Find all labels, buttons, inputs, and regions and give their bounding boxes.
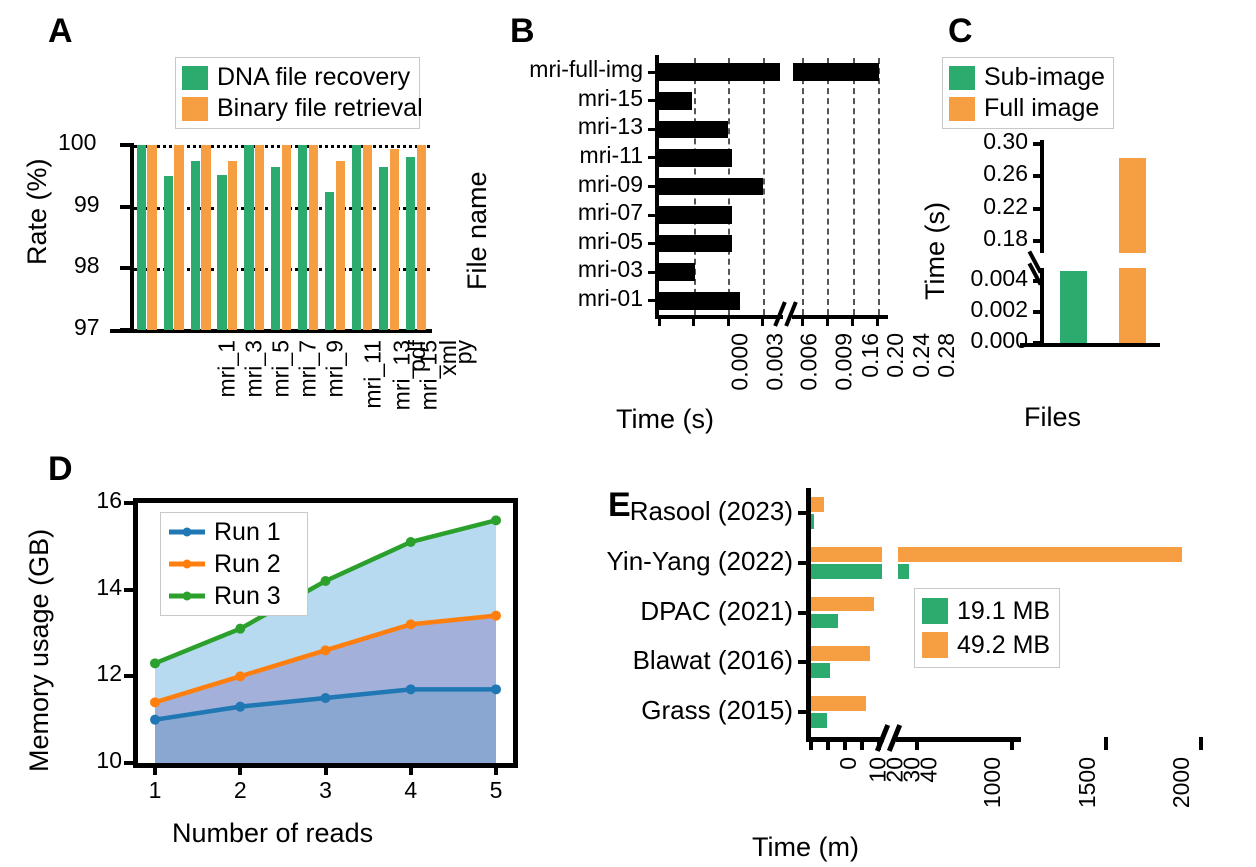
panel-a-ytick-label: 100 xyxy=(58,129,96,156)
panel-e-xlabel: Time (m) xyxy=(752,832,859,863)
panel-c: C Sub-image Full image Time (s) Files 0.… xyxy=(900,0,1256,440)
bar-49-2-MB-Yin-Yang-2022--high xyxy=(898,547,1182,562)
panel-e-xtick xyxy=(843,737,847,750)
panel-e-ytick xyxy=(798,511,811,515)
bar-49-2-MB-Grass-2015- xyxy=(811,696,866,711)
bar-dna-file-recovery-mri_15 xyxy=(325,192,334,330)
panel-d-xtick-label: 3 xyxy=(312,777,340,804)
panel-b-xlabel: Time (s) xyxy=(616,404,714,435)
panel-b-ytick-label: mri-09 xyxy=(440,171,643,198)
panel-c-ytick-label: 0.004 xyxy=(900,265,1028,292)
panel-b-xtick xyxy=(727,315,730,326)
panel-c-legend: Sub-image Full image xyxy=(942,57,1114,129)
panel-d-xtick xyxy=(324,763,328,775)
panel-b-xtick-label: 0.16 xyxy=(857,333,884,378)
point-run-3-4 xyxy=(406,537,416,547)
legend-item-run2: Run 2 xyxy=(167,548,301,580)
panel-c-ytick xyxy=(1033,142,1044,146)
panel-e-xtick-label: 1000 xyxy=(979,757,1006,808)
panel-a: A DNA file recovery Binary file retrieva… xyxy=(0,0,440,440)
panel-b-gridline xyxy=(763,58,765,315)
bar-mri-03 xyxy=(659,263,695,281)
bar-dna-file-recovery-mri_11 xyxy=(271,167,280,330)
bar-mri-05 xyxy=(659,235,732,253)
point-run-1-4 xyxy=(406,684,416,694)
panel-a-xtick-label: mri_11 xyxy=(360,340,387,409)
panel-e-xtick-label: 1500 xyxy=(1074,757,1101,808)
legend-item-dna: DNA file recovery xyxy=(182,62,413,93)
figure-root: A DNA file recovery Binary file retrieva… xyxy=(0,0,1256,867)
bar-dna-file-recovery-pdf xyxy=(352,145,361,330)
point-run-3-2 xyxy=(235,624,245,634)
panel-d-xtick xyxy=(153,763,157,775)
bar-dna-file-recovery-mri_5 xyxy=(191,161,200,330)
panel-b-ytick-label: mri-13 xyxy=(440,113,643,140)
panel-e-ytick-label: Blawat (2016) xyxy=(560,645,793,676)
panel-c-ytick-label: 0.000 xyxy=(900,327,1028,354)
panel-b-xtick-label: 0.000 xyxy=(727,333,754,391)
panel-c-ytick xyxy=(1033,239,1044,243)
panel-a-label: A xyxy=(48,14,73,48)
panel-a-ytick xyxy=(120,266,132,270)
bar-49-2-MB-DPAC-2021- xyxy=(811,597,874,612)
panel-b-ytick xyxy=(648,214,659,217)
legend-item-19mb: 19.1 MB xyxy=(922,594,1052,628)
panel-d-ytick xyxy=(124,588,136,592)
bar-mri-07 xyxy=(659,206,732,224)
panel-c-yaxis-upper xyxy=(1040,140,1044,253)
bar-mri-11 xyxy=(659,149,732,167)
bar-mri-01 xyxy=(659,292,740,310)
panel-b-xtick-label: 0.009 xyxy=(830,333,857,391)
panel-a-xtick-label: mri_1 xyxy=(214,340,241,398)
panel-b-ytick-label: mri-07 xyxy=(440,199,643,226)
panel-e-ytick-label: DPAC (2021) xyxy=(560,596,793,627)
panel-a-ytick-label: 97 xyxy=(74,314,100,341)
panel-e-ytick-label: Grass (2015) xyxy=(560,695,793,726)
panel-d-xtick-label: 5 xyxy=(482,777,510,804)
bar-19-1-MB-Grass-2015- xyxy=(811,713,827,728)
panel-b-gridline xyxy=(878,58,880,315)
bar-dna-file-recovery-xml xyxy=(379,167,388,330)
bar-mri-13 xyxy=(659,121,728,139)
panel-b: B File name Time (s) mri-01mri-03mri-05m… xyxy=(440,0,900,440)
panel-c-ytick xyxy=(1033,341,1044,345)
bar-19-1-MB-Blawat-2016- xyxy=(811,663,830,678)
bar-binary-file-retrieval-mri_11 xyxy=(282,145,291,330)
orange-swatch xyxy=(182,97,208,121)
panel-e-xtick-label: 2000 xyxy=(1169,757,1196,808)
bar-49-2-MB-Yin-Yang-2022--low xyxy=(811,547,882,562)
panel-d-xtick-label: 1 xyxy=(141,777,169,804)
panel-e-ytick xyxy=(798,611,811,615)
bar-binary-file-retrieval-py xyxy=(417,145,426,330)
legend-label-binary: Binary file retrieval xyxy=(217,96,423,121)
panel-b-ytick xyxy=(648,156,659,159)
panel-b-ytick-label: mri-03 xyxy=(440,256,643,283)
orange-swatch xyxy=(949,97,975,121)
point-run-3-5 xyxy=(491,515,501,525)
panel-a-xtick-label: mri_7 xyxy=(295,340,322,398)
bar-binary-file-retrieval-mri_3 xyxy=(174,145,183,330)
panel-a-ytick xyxy=(120,143,132,147)
panel-e-xtick xyxy=(826,737,830,750)
bar-binary-file-retrieval-mri_7 xyxy=(228,161,237,330)
panel-b-xtick xyxy=(658,315,661,326)
bar-binary-file-retrieval-mri_9 xyxy=(255,145,264,330)
point-run-2-1 xyxy=(150,697,160,707)
panel-b-xtick xyxy=(826,315,829,326)
panel-d-ytick-label: 12 xyxy=(78,660,122,687)
green-swatch xyxy=(949,66,975,90)
panel-b-axis-break-2 xyxy=(784,301,797,327)
legend-label-49mb: 49.2 MB xyxy=(957,633,1050,658)
legend-label-dna: DNA file recovery xyxy=(217,65,410,90)
panel-b-xtick xyxy=(692,315,695,326)
run3-line-swatch xyxy=(167,589,207,603)
panel-b-label: B xyxy=(510,14,535,48)
panel-d-xtick xyxy=(494,763,498,775)
panel-b-xtick xyxy=(761,315,764,326)
panel-b-xtick xyxy=(801,315,804,326)
panel-b-ytick-label: mri-05 xyxy=(440,228,643,255)
panel-e-xtick-label: 40 xyxy=(915,757,942,783)
bar-dna-file-recovery-py xyxy=(406,157,415,330)
point-run-1-1 xyxy=(150,715,160,725)
panel-d-xtick-label: 2 xyxy=(226,777,254,804)
point-run-2-5 xyxy=(491,611,501,621)
bar-binary-file-retrieval-mri_15 xyxy=(336,161,345,330)
legend-item-run3: Run 3 xyxy=(167,580,301,612)
panel-d-xlabel: Number of reads xyxy=(172,818,373,849)
panel-e-xtick xyxy=(915,737,919,750)
panel-e-ytick-label: Rasool (2023) xyxy=(560,496,793,527)
panel-e-ytick xyxy=(798,660,811,664)
bar-19-1-MB-Yin-Yang-2022--high xyxy=(898,564,909,579)
point-run-1-2 xyxy=(235,702,245,712)
panel-b-gridline xyxy=(827,58,829,315)
panel-d-ytick xyxy=(124,501,136,505)
orange-swatch xyxy=(922,632,948,658)
panel-c-ytick xyxy=(1033,174,1044,178)
point-run-3-3 xyxy=(321,576,331,586)
legend-label-run2: Run 2 xyxy=(214,552,281,577)
panel-b-ytick xyxy=(648,185,659,188)
panel-d-xtick-label: 4 xyxy=(397,777,425,804)
bar-19-1-MB-DPAC-2021- xyxy=(811,614,838,629)
panel-b-ytick-label: mri-15 xyxy=(440,85,643,112)
panel-d: D Memory usage (GB) Number of reads Run … xyxy=(0,440,560,867)
panel-a-ylabel: Rate (%) xyxy=(22,158,53,265)
point-run-2-4 xyxy=(406,619,416,629)
bar-19-1-MB-Yin-Yang-2022--low xyxy=(811,564,882,579)
panel-c-xlabel: Files xyxy=(1024,402,1081,433)
point-run-2-2 xyxy=(235,671,245,681)
panel-d-label: D xyxy=(48,452,73,486)
bar-49-2-MB-Rasool-2023- xyxy=(811,497,824,512)
panel-a-xtick-label: pdf xyxy=(404,340,431,372)
point-run-1-3 xyxy=(321,693,331,703)
panel-d-ytick xyxy=(124,761,136,765)
bar-sub-image-low xyxy=(1060,271,1087,343)
green-swatch xyxy=(182,66,208,90)
legend-item-subimage: Sub-image xyxy=(949,62,1107,93)
bar-19-1-MB-Rasool-2023- xyxy=(811,514,814,529)
panel-e-ytick xyxy=(798,710,811,714)
panel-b-ytick xyxy=(648,299,659,302)
bar-mri-full-img-low xyxy=(659,63,780,81)
run1-line-swatch xyxy=(167,525,207,539)
bar-binary-file-retrieval-pdf xyxy=(363,145,372,330)
panel-b-xtick-label: 0.006 xyxy=(796,333,823,391)
panel-b-xtick xyxy=(851,315,854,326)
panel-e-ytick xyxy=(798,561,811,565)
panel-b-ytick xyxy=(648,128,659,131)
legend-item-binary: Binary file retrieval xyxy=(182,93,413,124)
panel-b-ytick xyxy=(648,271,659,274)
bar-mri-15 xyxy=(659,92,692,110)
panel-c-ytick xyxy=(1033,207,1044,211)
panel-a-ytick xyxy=(120,328,132,332)
legend-label-run1: Run 1 xyxy=(214,520,281,545)
panel-d-xtick xyxy=(238,763,242,775)
legend-label-fullimage: Full image xyxy=(984,96,1099,121)
panel-e: E Time (m) Grass (2015)Blawat (2016)DPAC… xyxy=(560,440,1256,867)
panel-b-ytick xyxy=(648,242,659,245)
panel-c-ytick-label: 0.22 xyxy=(900,193,1028,220)
bar-dna-file-recovery-mri_3 xyxy=(164,176,173,330)
panel-b-ytick-label: mri-full-img xyxy=(440,56,643,83)
panel-a-xtick-label: mri_3 xyxy=(241,340,268,398)
panel-b-gridline xyxy=(802,58,804,315)
legend-label-run3: Run 3 xyxy=(214,584,281,609)
panel-b-xtick-label: 0.003 xyxy=(761,333,788,391)
panel-d-ytick-label: 14 xyxy=(78,574,122,601)
bar-binary-file-retrieval-mri_13 xyxy=(309,145,318,330)
panel-b-gridline xyxy=(853,58,855,315)
bar-dna-file-recovery-mri_7 xyxy=(217,175,226,330)
panel-a-ytick-label: 99 xyxy=(74,191,100,218)
panel-c-label: C xyxy=(948,14,973,48)
panel-e-legend: 19.1 MB 49.2 MB xyxy=(914,588,1060,668)
run2-line-swatch xyxy=(167,557,207,571)
bar-mri-09 xyxy=(659,178,763,196)
panel-a-ytick xyxy=(120,205,132,209)
panel-b-ytick xyxy=(648,99,659,102)
bar-dna-file-recovery-mri_9 xyxy=(244,145,253,330)
panel-e-ytick-label: Yin-Yang (2022) xyxy=(560,546,793,577)
legend-item-fullimage: Full image xyxy=(949,93,1107,124)
panel-e-xtick xyxy=(1104,737,1108,750)
panel-d-legend: Run 1 Run 2 Run 3 xyxy=(160,512,308,616)
legend-item-run1: Run 1 xyxy=(167,516,301,548)
legend-label-19mb: 19.1 MB xyxy=(957,599,1050,624)
panel-c-ytick-label: 0.18 xyxy=(900,225,1028,252)
legend-item-49mb: 49.2 MB xyxy=(922,628,1052,662)
bar-49-2-MB-Blawat-2016- xyxy=(811,646,870,661)
panel-b-ytick-label: mri-01 xyxy=(440,285,643,312)
bar-mri-full-img-high xyxy=(793,63,879,81)
panel-d-ylabel: Memory usage (GB) xyxy=(24,529,55,772)
green-swatch xyxy=(922,598,948,624)
panel-c-ytick-label: 0.002 xyxy=(900,296,1028,323)
panel-d-ytick-label: 10 xyxy=(78,747,122,774)
panel-c-ytick-label: 0.30 xyxy=(900,128,1028,155)
bar-dna-file-recovery-mri_1 xyxy=(137,145,146,330)
panel-e-xtick-label: 0 xyxy=(835,757,862,770)
panel-d-ytick-label: 16 xyxy=(78,487,122,514)
panel-b-xtick xyxy=(876,315,879,326)
bar-dna-file-recovery-mri_13 xyxy=(298,145,307,330)
panel-e-xtick xyxy=(809,737,813,750)
point-run-3-1 xyxy=(150,658,160,668)
panel-e-xtick xyxy=(860,737,864,750)
bar-binary-file-retrieval-xml xyxy=(390,149,399,330)
panel-a-xtick-label: mri_5 xyxy=(268,340,295,398)
panel-b-ytick xyxy=(648,71,659,74)
panel-a-ytick-label: 98 xyxy=(74,252,100,279)
bar-full-image-high xyxy=(1119,158,1146,253)
panel-a-xtick-label: mri_9 xyxy=(322,340,349,398)
panel-b-ytick-label: mri-11 xyxy=(440,142,643,169)
panel-c-ytick-label: 0.26 xyxy=(900,160,1028,187)
legend-label-subimage: Sub-image xyxy=(984,65,1105,90)
panel-e-xtick xyxy=(1010,737,1014,750)
panel-e-xtick xyxy=(1199,737,1203,750)
bar-binary-file-retrieval-mri_1 xyxy=(147,145,156,330)
panel-d-ytick xyxy=(124,674,136,678)
panel-a-legend: DNA file recovery Binary file retrieval xyxy=(175,57,420,129)
point-run-2-3 xyxy=(321,645,331,655)
panel-d-xtick xyxy=(409,763,413,775)
bar-binary-file-retrieval-mri_5 xyxy=(201,145,210,330)
panel-c-ytick xyxy=(1033,310,1044,314)
panel-b-xaxis-high xyxy=(792,315,888,319)
bar-full-image-low xyxy=(1119,268,1146,343)
panel-a-yaxis xyxy=(130,143,134,333)
point-run-1-5 xyxy=(491,684,501,694)
